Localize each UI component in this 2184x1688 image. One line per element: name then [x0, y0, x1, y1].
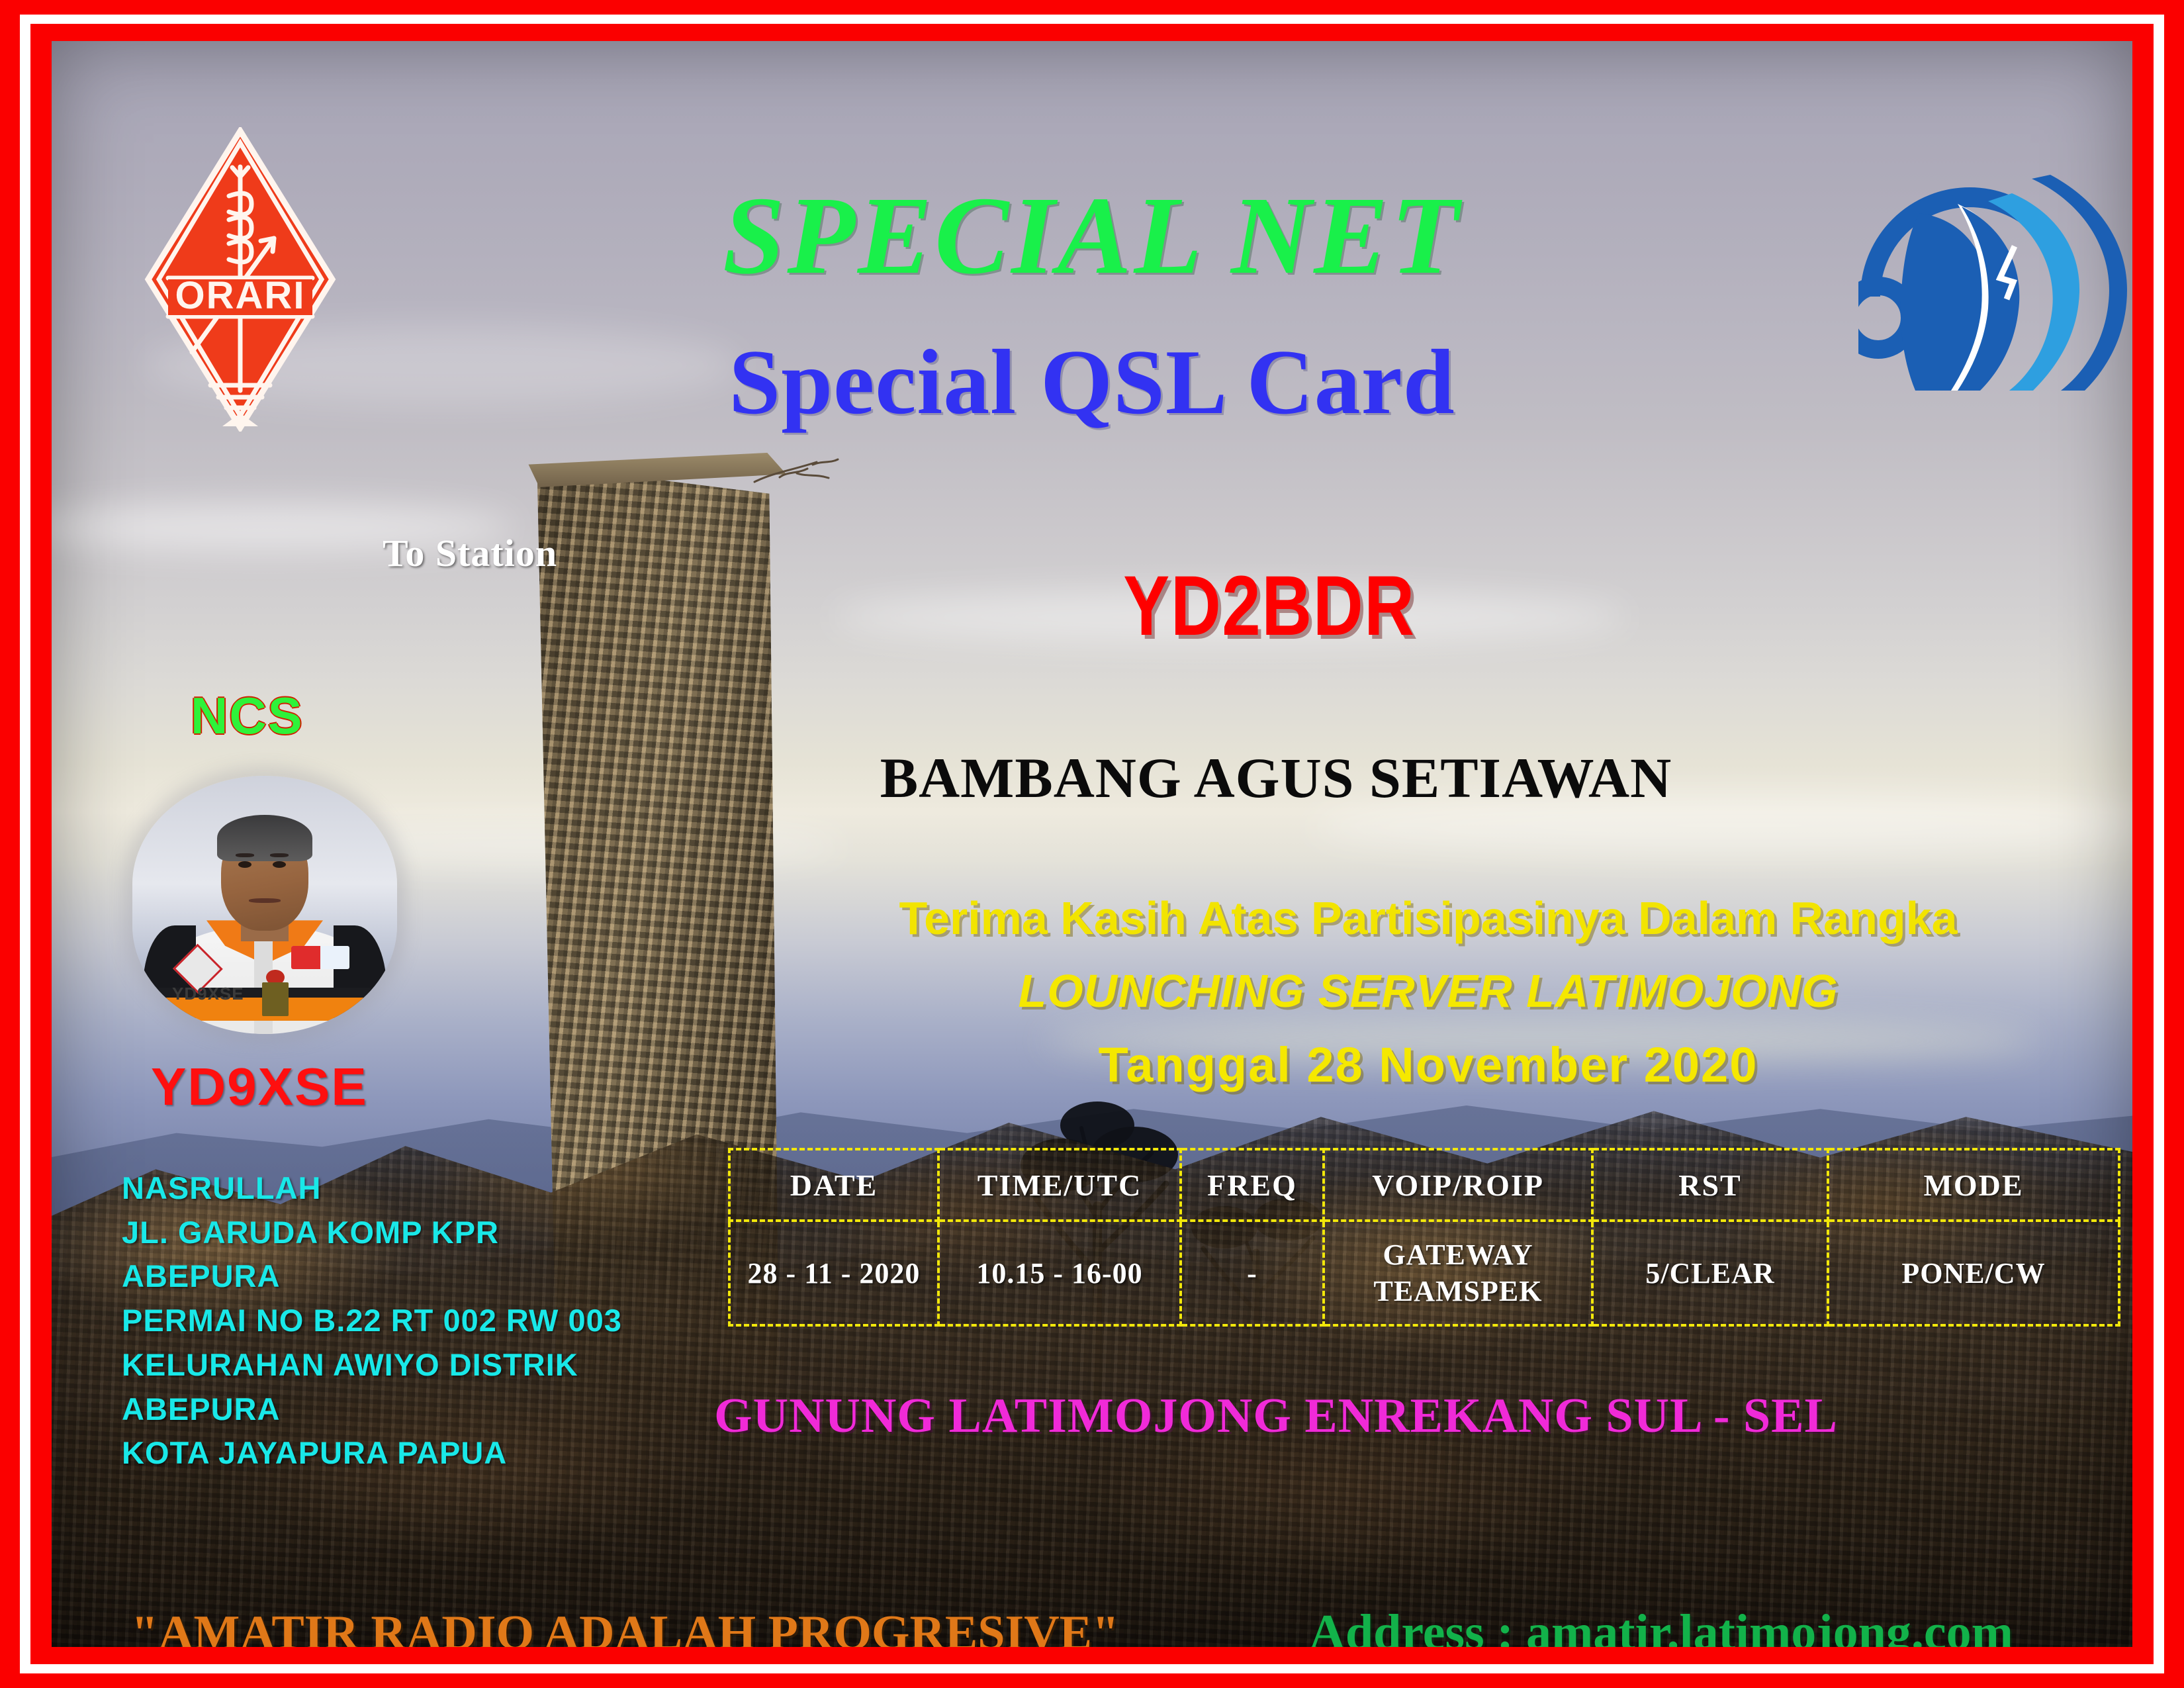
cell-freq: -: [1181, 1221, 1324, 1325]
address-line: KELURAHAN AWIYO DISTRIK: [122, 1343, 651, 1387]
ncs-label: NCS: [191, 690, 304, 741]
ncs-address-block: NASRULLAH JL. GARUDA KOMP KPR ABEPURA PE…: [122, 1166, 651, 1476]
operator-name: BAMBANG AGUS SETIAWAN: [713, 749, 1839, 806]
card-photo-background: ORARI SPECIAL NET Special QSL Card To St…: [52, 41, 2132, 1647]
column-header-freq: FREQ: [1181, 1149, 1324, 1221]
address-line: JL. GARUDA KOMP KPR: [122, 1211, 651, 1255]
ncs-operator-avatar: YD9XSE: [132, 776, 397, 1034]
column-header-rst: RST: [1592, 1149, 1828, 1221]
column-header-time: TIME/UTC: [938, 1149, 1181, 1221]
cell-rst: 5/CLEAR: [1592, 1221, 1828, 1325]
footer-motto: "AMATIR RADIO ADALAH PROGRESIVE": [131, 1609, 1119, 1647]
footer-website-address: Address : amatir.latimojong.com: [1309, 1607, 2013, 1647]
address-line: KOTA JAYAPURA PAPUA: [122, 1431, 651, 1476]
column-header-voip-roip: VOIP/ROIP: [1324, 1149, 1592, 1221]
location-text: GUNUNG LATIMOJONG ENREKANG SUL - SEL: [647, 1391, 1905, 1440]
cell-voip-roip-line1: GATEWAY: [1326, 1237, 1590, 1273]
cell-voip-roip-line2: TEAMSPEK: [1326, 1273, 1590, 1309]
avatar-id-card: [262, 982, 289, 1016]
address-line: PERMAI NO B.22 RT 002 RW 003: [122, 1299, 651, 1343]
table-row: 28 - 11 - 2020 10.15 - 16-00 - GATEWAY T…: [729, 1221, 2119, 1325]
qsl-card: ORARI SPECIAL NET Special QSL Card To St…: [0, 0, 2184, 1688]
station-callsign: YD2BDR: [1025, 564, 1514, 649]
column-header-date: DATE: [729, 1149, 938, 1221]
avatar-chest-logo-red: [291, 946, 320, 969]
event-line-1: Terima Kasih Atas Partisipasinya Dalam R…: [799, 895, 2057, 941]
ncs-callsign: YD9XSE: [151, 1060, 368, 1113]
avatar-shirt-callsign: YD9XSE: [172, 984, 244, 1004]
avatar-eyebrow-right: [270, 853, 289, 857]
event-line-3: Tanggal 28 November 2020: [799, 1041, 2057, 1090]
cell-date: 28 - 11 - 2020: [729, 1221, 938, 1325]
avatar-mouth: [249, 898, 281, 903]
avatar-eyebrow-left: [236, 853, 254, 857]
avatar-eye-left: [238, 861, 251, 868]
avatar-eye-right: [273, 861, 286, 868]
avatar-hair: [217, 815, 312, 861]
event-line-2: LOUNCHING SERVER LATIMOJONG: [799, 968, 2057, 1014]
cell-voip-roip: GATEWAY TEAMSPEK: [1324, 1221, 1592, 1325]
table-header-row: DATE TIME/UTC FREQ VOIP/ROIP RST MODE: [729, 1149, 2119, 1221]
page-title: SPECIAL NET: [52, 180, 2132, 291]
column-header-mode: MODE: [1828, 1149, 2119, 1221]
page-subtitle: Special QSL Card: [52, 336, 2132, 429]
address-line: NASRULLAH: [122, 1166, 651, 1211]
address-line: ABEPURA: [122, 1254, 651, 1299]
cell-mode: PONE/CW: [1828, 1221, 2119, 1325]
qso-details-table: DATE TIME/UTC FREQ VOIP/ROIP RST MODE 28…: [728, 1148, 2120, 1327]
address-line: ABEPURA: [122, 1387, 651, 1432]
cell-time: 10.15 - 16-00: [938, 1221, 1181, 1325]
to-station-label: To Station: [383, 531, 557, 575]
